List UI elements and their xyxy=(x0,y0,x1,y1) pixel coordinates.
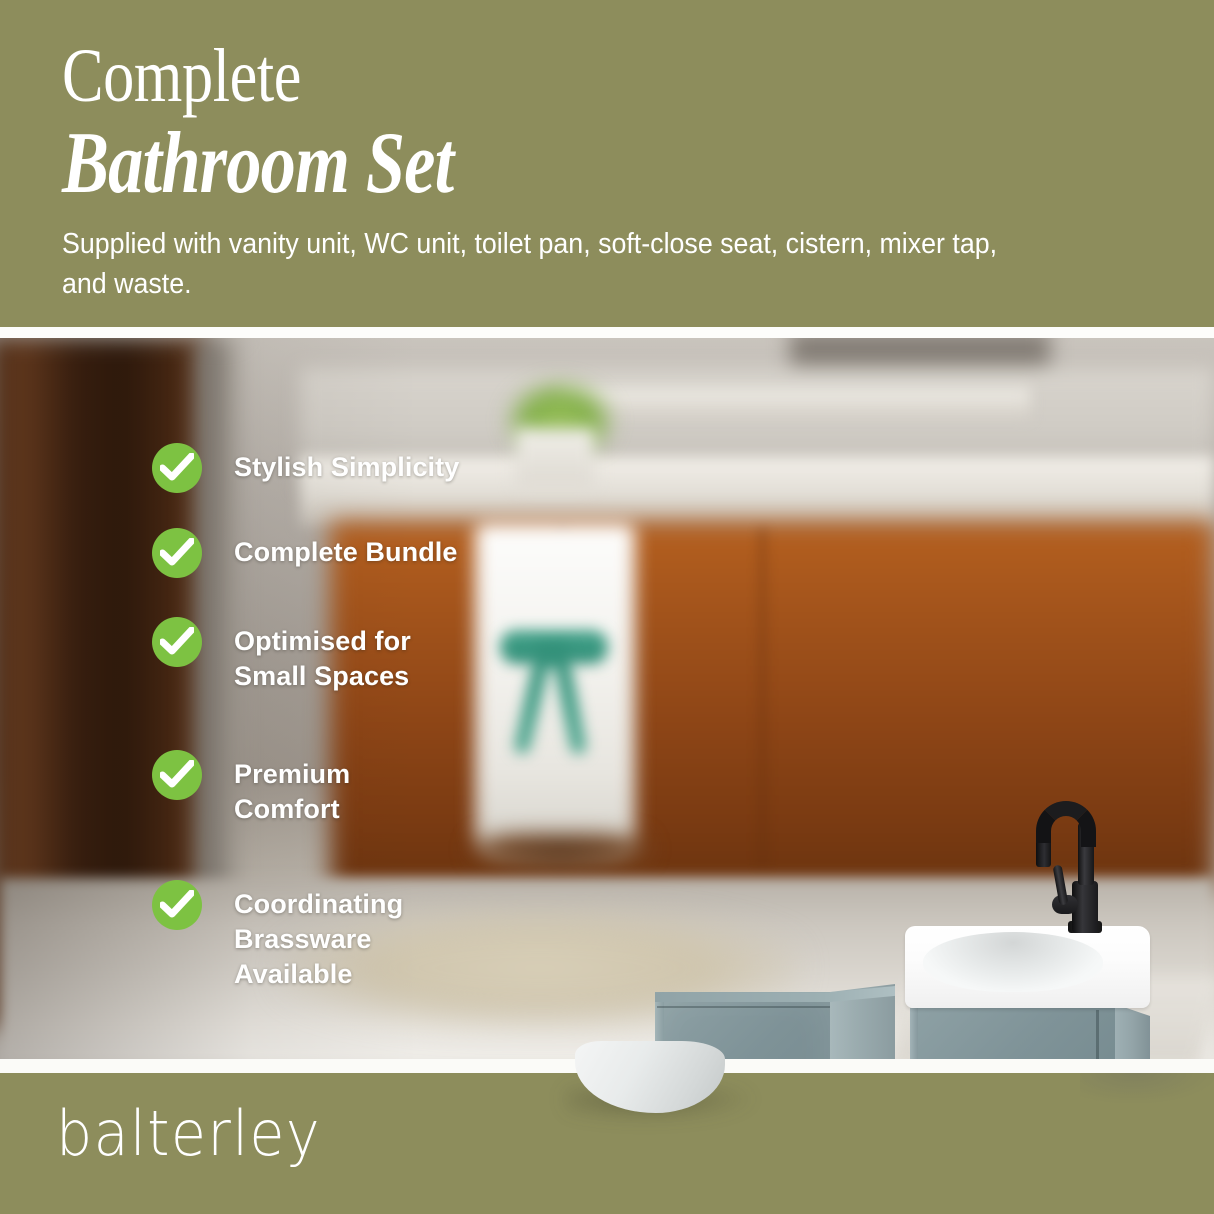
feature-label: Coordinating Brassware Available xyxy=(234,880,403,992)
feature-item: Stylish Simplicity xyxy=(152,443,459,493)
wc-unit-left-edge xyxy=(655,992,664,1059)
brand-logo: balterley xyxy=(56,1103,321,1165)
header-band: Complete Bathroom Set Supplied with vani… xyxy=(0,0,1214,327)
wc-unit-top-seam xyxy=(657,1006,830,1008)
feature-label: Premium Comfort xyxy=(234,750,350,827)
feature-item: Premium Comfort xyxy=(152,750,350,827)
vanity-unit-door xyxy=(910,1008,1115,1059)
mixer-tap xyxy=(1030,793,1130,935)
divider-top xyxy=(0,327,1214,338)
tap-spout xyxy=(1036,843,1051,867)
check-icon xyxy=(152,443,202,493)
feature-label: Complete Bundle xyxy=(234,528,458,570)
vanity-unit-door-gap xyxy=(1096,1010,1099,1059)
basin-bowl xyxy=(923,932,1103,992)
wc-unit xyxy=(655,984,895,1059)
wc-unit-front-panel xyxy=(655,992,830,1059)
product-poster: Complete Bathroom Set Supplied with vani… xyxy=(0,0,1214,1214)
page-title-line2: Bathroom Set xyxy=(62,118,453,210)
footer-band: balterley xyxy=(0,1073,1214,1214)
check-icon xyxy=(152,528,202,578)
check-icon xyxy=(152,617,202,667)
feature-item: Optimised for Small Spaces xyxy=(152,617,411,694)
footer-shadow-right xyxy=(1080,1073,1214,1103)
tap-gooseneck-arc xyxy=(1036,801,1096,847)
background-wood-seam xyxy=(760,528,765,868)
vanity-unit-left-edge xyxy=(910,1008,918,1059)
vanity-unit xyxy=(900,926,1150,1059)
basin xyxy=(905,926,1150,1008)
divider-bottom xyxy=(0,1059,1214,1073)
background-shelf xyxy=(560,388,1030,418)
check-icon xyxy=(152,880,202,930)
feature-item: Complete Bundle xyxy=(152,528,458,578)
feature-list: Stylish Simplicity Complete Bundle Optim… xyxy=(0,338,600,1059)
vanity-unit-side-panel xyxy=(1115,1004,1150,1059)
product-photo: Stylish Simplicity Complete Bundle Optim… xyxy=(0,338,1214,1059)
check-icon xyxy=(152,750,202,800)
feature-label: Stylish Simplicity xyxy=(234,443,459,485)
page-title-line1: Complete xyxy=(62,36,301,116)
header-subtitle: Supplied with vanity unit, WC unit, toil… xyxy=(62,224,1002,304)
feature-item: Coordinating Brassware Available xyxy=(152,880,403,992)
feature-label: Optimised for Small Spaces xyxy=(234,617,411,694)
